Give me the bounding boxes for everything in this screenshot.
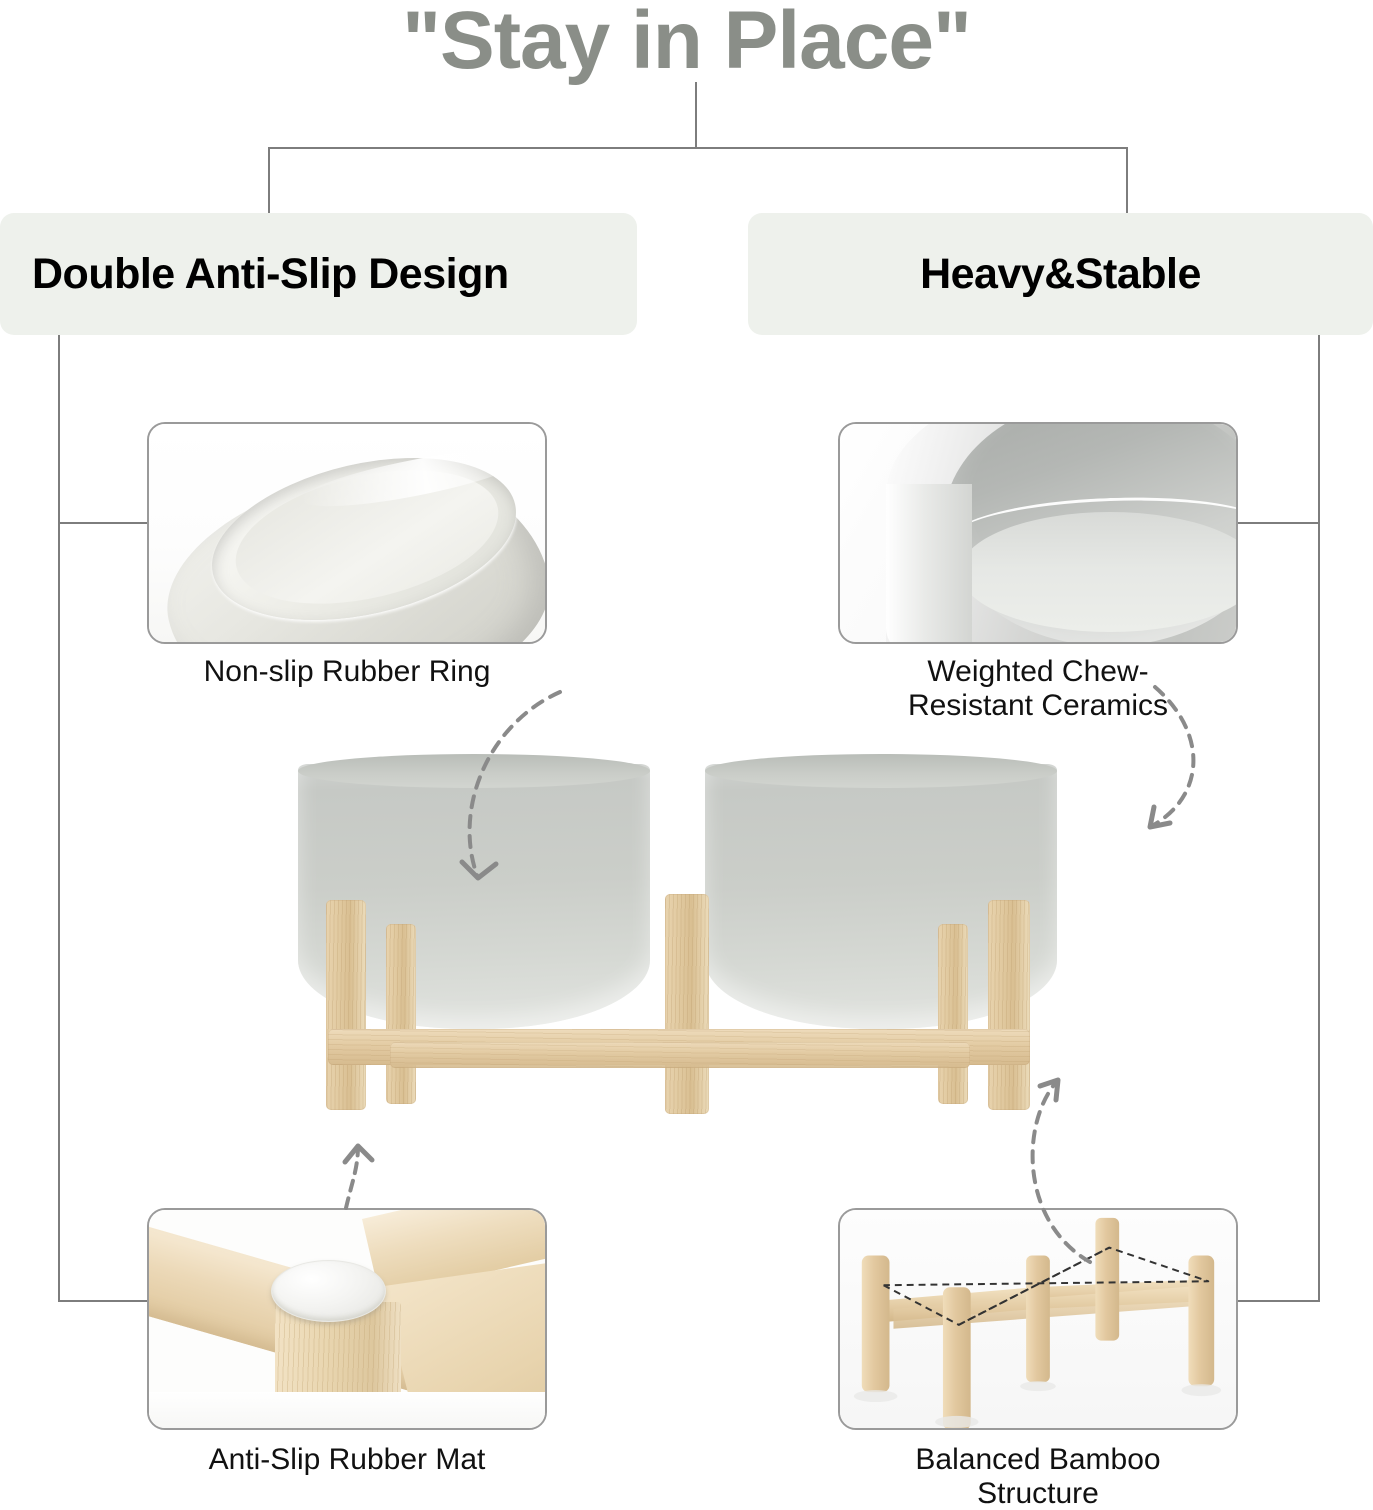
bracket-right-spine (1318, 334, 1320, 1302)
connector-title-stem (695, 82, 697, 148)
header-left-label: Double Anti-Slip Design (32, 250, 509, 299)
callout-arrow-ceramics (990, 687, 1230, 947)
caption-non-slip-rubber-ring: Non-slip Rubber Ring (147, 655, 547, 689)
bracket-left-spine (58, 334, 60, 1302)
connector-drop-right (1126, 147, 1128, 215)
floor-surface (149, 1392, 545, 1428)
rubber-pad (271, 1260, 386, 1322)
photo-weighted-ceramics (838, 422, 1238, 644)
bamboo-leg-pad-illustration (149, 1210, 545, 1428)
page-title: "Stay in Place" (0, 0, 1373, 88)
bracket-left-branch-bottom (58, 1300, 150, 1302)
ceramic-left-wall (886, 484, 972, 644)
feature-group-header-right[interactable]: Heavy&Stable (748, 213, 1373, 335)
ceramic-bowl-illustration (840, 424, 1236, 642)
bracket-right-branch-bottom (1236, 1300, 1320, 1302)
caption-anti-slip-rubber-mat: Anti-Slip Rubber Mat (147, 1443, 547, 1477)
bracket-left-branch-top (58, 522, 150, 524)
connector-drop-left (268, 147, 270, 215)
header-right-label: Heavy&Stable (920, 250, 1201, 299)
main-product-image (290, 742, 1090, 1192)
callout-arrow-balanced-structure (900, 972, 1200, 1272)
feature-group-header-left[interactable]: Double Anti-Slip Design (0, 213, 637, 335)
bracket-right-branch-top (1236, 522, 1320, 524)
connector-horizontal-bar (268, 147, 1128, 149)
photo-non-slip-rubber-ring (147, 422, 547, 644)
callout-arrow-rubber-mat (300, 1112, 460, 1242)
bowl-underside-illustration (149, 424, 545, 642)
